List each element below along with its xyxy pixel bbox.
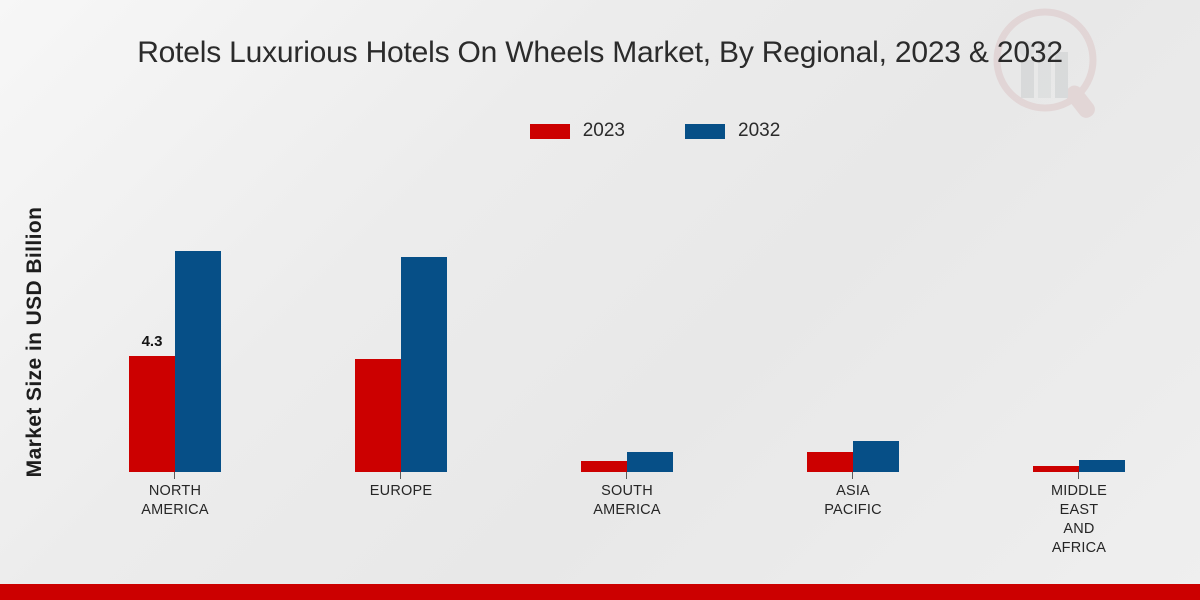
bar-group-north-america: 4.3 NORTHAMERICA — [62, 170, 288, 472]
legend-label-2032: 2032 — [738, 120, 780, 142]
chart-title: Rotels Luxurious Hotels On Wheels Market… — [0, 36, 1200, 70]
bar-2032-asia-pacific[interactable] — [853, 441, 899, 472]
bar-2023-europe[interactable] — [355, 359, 401, 472]
bar-group-asia-pacific: ASIAPACIFIC — [740, 170, 966, 472]
bar-2023-middle-east-and-africa[interactable] — [1033, 466, 1079, 472]
bar-group-south-america: SOUTHAMERICA — [514, 170, 740, 472]
bar-2032-middle-east-and-africa[interactable] — [1079, 460, 1125, 472]
footer-accent-bar — [0, 584, 1200, 600]
bar-2023-asia-pacific[interactable] — [807, 452, 853, 472]
legend-item-2023[interactable]: 2023 — [530, 120, 625, 142]
bar-group-middle-east-and-africa: MIDDLEEASTANDAFRICA — [966, 170, 1192, 472]
x-label-middle-east-and-africa: MIDDLEEASTANDAFRICA — [984, 482, 1174, 558]
legend-swatch-2032 — [685, 124, 725, 139]
chart-legend: 2023 2032 — [0, 120, 1200, 142]
x-tick-north-america — [174, 472, 175, 479]
x-label-europe: EUROPE — [306, 482, 496, 501]
x-tick-middle-east-and-africa — [1078, 472, 1079, 479]
x-tick-south-america — [626, 472, 627, 479]
bar-2023-south-america[interactable] — [581, 461, 627, 472]
bar-2023-north-america[interactable]: 4.3 — [129, 356, 175, 472]
x-tick-asia-pacific — [852, 472, 853, 479]
y-axis-title: Market Size in USD Billion — [23, 152, 47, 532]
bar-group-europe: EUROPE — [288, 170, 514, 472]
legend-label-2023: 2023 — [583, 120, 625, 142]
bar-2032-europe[interactable] — [401, 257, 447, 472]
x-tick-europe — [400, 472, 401, 479]
chart-canvas: Rotels Luxurious Hotels On Wheels Market… — [0, 0, 1200, 600]
bar-2032-south-america[interactable] — [627, 452, 673, 472]
bar-value-2023-north-america: 4.3 — [142, 333, 163, 350]
x-label-north-america: NORTHAMERICA — [80, 482, 270, 520]
legend-swatch-2023 — [530, 124, 570, 139]
x-label-asia-pacific: ASIAPACIFIC — [758, 482, 948, 520]
x-label-south-america: SOUTHAMERICA — [532, 482, 722, 520]
plot-area: 4.3 NORTHAMERICA EUROPE SOUTHA — [62, 170, 1194, 472]
bar-2032-north-america[interactable] — [175, 251, 221, 472]
legend-item-2032[interactable]: 2032 — [685, 120, 780, 142]
